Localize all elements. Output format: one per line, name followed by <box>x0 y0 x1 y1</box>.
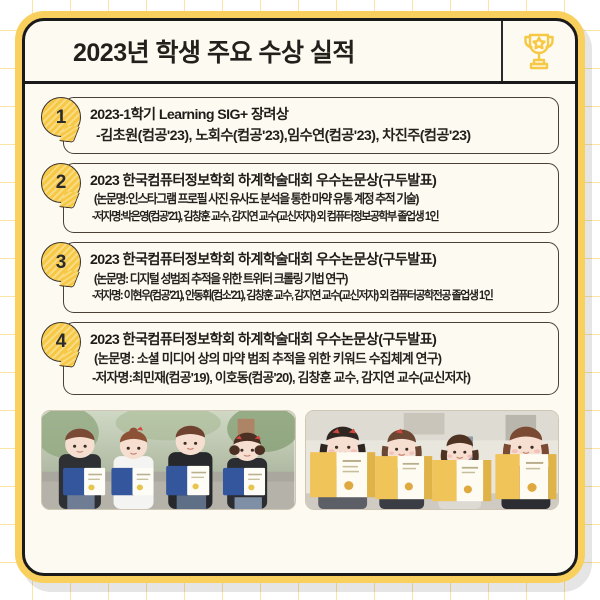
entry-title: 2023 한국컴퓨터정보학회 하계학술대회 우수논문상(구두발표) <box>90 330 548 351</box>
entry-authors: -저자명:박은영(컴공'21), 김창훈 교수, 감지연 교수(교신저자) 외 … <box>90 209 521 225</box>
entry-paper-title: (논문명: 디지털 성범죄 추적을 위한 트위터 크롤링 기법 연구) <box>90 271 530 288</box>
entry-body: 2023 한국컴퓨터정보학회 하계학술대회 우수논문상(구두발표) (논문명:인… <box>63 163 559 234</box>
entry-paper-title: (논문명:인스타그램 프로필 사진 유사도 분석을 통한 마약 유통 계정 추적… <box>90 191 530 208</box>
entry-title: 2023 한국컴퓨터정보학회 하계학술대회 우수논문상(구두발표) <box>90 171 548 192</box>
award-entry: 4 2023 한국컴퓨터정보학회 하계학술대회 우수논문상(구두발표) (논문명… <box>41 322 559 395</box>
award-photo-outdoor <box>41 410 296 510</box>
entry-authors: -저자명:최민재(컴공'19), 이호동(컴공'20), 김창훈 교수, 감지연… <box>90 369 548 387</box>
entry-number-badge: 1 <box>41 97 81 137</box>
entry-body: 2023 한국컴퓨터정보학회 하계학술대회 우수논문상(구두발표) (논문명: … <box>63 322 559 395</box>
award-entry: 2 2023 한국컴퓨터정보학회 하계학술대회 우수논문상(구두발표) (논문명… <box>41 163 559 234</box>
trophy-icon <box>501 21 575 81</box>
award-entry: 1 2023-1학기 Learning SIG+ 장려상 -김초원(컴공'23)… <box>41 97 559 154</box>
entry-title: 2023 한국컴퓨터정보학회 하계학술대회 우수논문상(구두발표) <box>90 250 548 271</box>
award-card: 2023년 학생 주요 수상 실적 1 2023-1학기 Learning SI… <box>22 18 578 576</box>
card-header: 2023년 학생 주요 수상 실적 <box>25 21 575 84</box>
page-title: 2023년 학생 주요 수상 실적 <box>25 21 501 81</box>
entry-authors: -저자명: 이현우(컴공'21), 안동휘(컴소'21), 김창훈 교수, 감지… <box>90 288 521 304</box>
entry-number-badge: 3 <box>41 242 81 282</box>
entry-authors: -김초원(컴공'23), 노회수(컴공'23),임수연(컴공'23), 차진주(… <box>90 126 548 146</box>
entry-title: 2023-1학기 Learning SIG+ 장려상 <box>90 105 548 126</box>
entry-number-badge: 2 <box>41 163 81 203</box>
photo-gallery <box>25 404 575 510</box>
award-photo-indoor <box>305 410 560 510</box>
award-entry-list: 1 2023-1학기 Learning SIG+ 장려상 -김초원(컴공'23)… <box>25 84 575 395</box>
award-entry: 3 2023 한국컴퓨터정보학회 하계학술대회 우수논문상(구두발표) (논문명… <box>41 242 559 313</box>
entry-body: 2023-1학기 Learning SIG+ 장려상 -김초원(컴공'23), … <box>63 97 559 154</box>
entry-paper-title: (논문명: 소셜 미디어 상의 마약 범죄 추적을 위한 키워드 수집체계 연구… <box>90 350 548 368</box>
entry-body: 2023 한국컴퓨터정보학회 하계학술대회 우수논문상(구두발표) (논문명: … <box>63 242 559 313</box>
entry-number-badge: 4 <box>41 322 81 362</box>
